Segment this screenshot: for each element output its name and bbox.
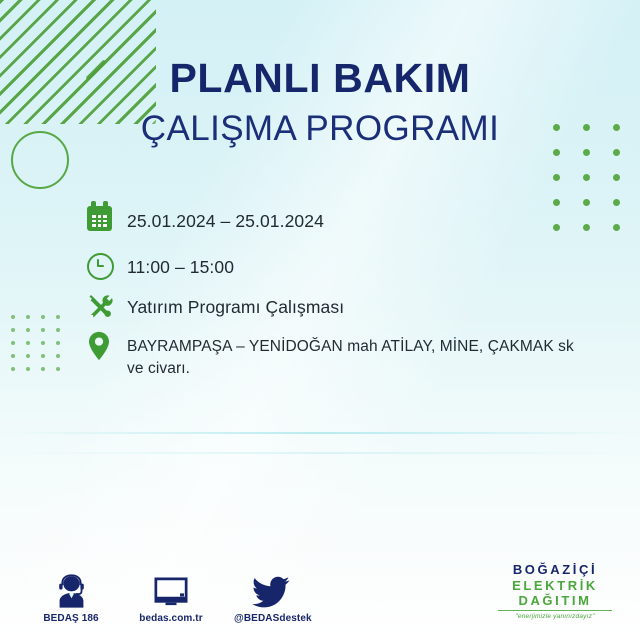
logo-line-elektrik: ELEKTRİK [496,578,614,593]
logo-line-dagitim: DAĞITIM [496,593,614,608]
contact-twitter[interactable]: @BEDASdestek [234,568,308,624]
monitor-icon [134,568,208,608]
dot [41,315,45,319]
location-value: BAYRAMPAŞA – YENİDOĞAN mah ATİLAY, MİNE,… [127,330,584,379]
dot [26,354,30,358]
logo-divider [498,610,612,611]
dot [613,174,620,181]
dot [26,315,30,319]
dot [26,341,30,345]
dot [613,199,620,206]
dot [41,328,45,332]
work-type-value: Yatırım Programı Çalışması [127,290,344,319]
dot [583,199,590,206]
dot [613,224,620,231]
page-subtitle: ÇALIŞMA PROGRAMI [0,111,640,146]
bedas-logo: BOĞAZİÇİ ELEKTRİK DAĞITIM "enerjimizle y… [496,562,614,620]
detail-row-work-type: Yatırım Programı Çalışması [84,290,584,324]
detail-row-date: 25.01.2024 – 25.01.2024 [84,204,584,238]
poster-canvas: PLANLI BAKIM ÇALIŞMA PROGRAMI 25.01.2024… [0,0,640,640]
logo-tagline: "enerjimizle yanınızdayız" [496,613,614,620]
contact-phone-label: BEDAŞ 186 [34,613,108,624]
dot [553,149,560,156]
background-band [0,452,640,454]
dot [56,315,60,319]
dot [41,354,45,358]
dot [11,315,15,319]
twitter-bird-icon [234,568,308,608]
background-band [0,432,640,434]
page-title: PLANLI BAKIM [0,58,640,99]
detail-row-time: 11:00 – 15:00 [84,250,584,284]
dot [56,354,60,358]
dot [11,328,15,332]
dot [11,367,15,371]
detail-row-location: BAYRAMPAŞA – YENİDOĞAN mah ATİLAY, MİNE,… [84,330,584,379]
dot [41,367,45,371]
page-title-block: PLANLI BAKIM ÇALIŞMA PROGRAMI [0,58,640,146]
contact-website[interactable]: bedas.com.tr [134,568,208,624]
dot [11,341,15,345]
dot [11,354,15,358]
footer: BEDAŞ 186 bedas.com.tr [0,552,640,624]
dot [56,367,60,371]
contact-website-label: bedas.com.tr [134,613,208,624]
tools-icon [84,290,118,324]
contact-list: BEDAŞ 186 bedas.com.tr [34,568,308,624]
location-pin-icon [84,330,118,364]
logo-line-bogazici: BOĞAZİÇİ [496,562,614,577]
dot [26,367,30,371]
calendar-icon [84,204,118,238]
clock-icon [84,250,118,284]
dot [583,149,590,156]
dot [613,149,620,156]
dot [26,328,30,332]
dot [583,224,590,231]
contact-twitter-label: @BEDASdestek [234,613,308,624]
dot-grid-left-decoration [11,315,71,380]
dot [56,328,60,332]
dot [41,341,45,345]
date-value: 25.01.2024 – 25.01.2024 [127,204,324,233]
time-value: 11:00 – 15:00 [127,250,234,279]
outage-details: 25.01.2024 – 25.01.2024 11:00 – 15:00 [84,204,584,388]
dot [553,174,560,181]
support-agent-icon [34,568,108,608]
dot [56,341,60,345]
dot [583,174,590,181]
contact-phone[interactable]: BEDAŞ 186 [34,568,108,624]
